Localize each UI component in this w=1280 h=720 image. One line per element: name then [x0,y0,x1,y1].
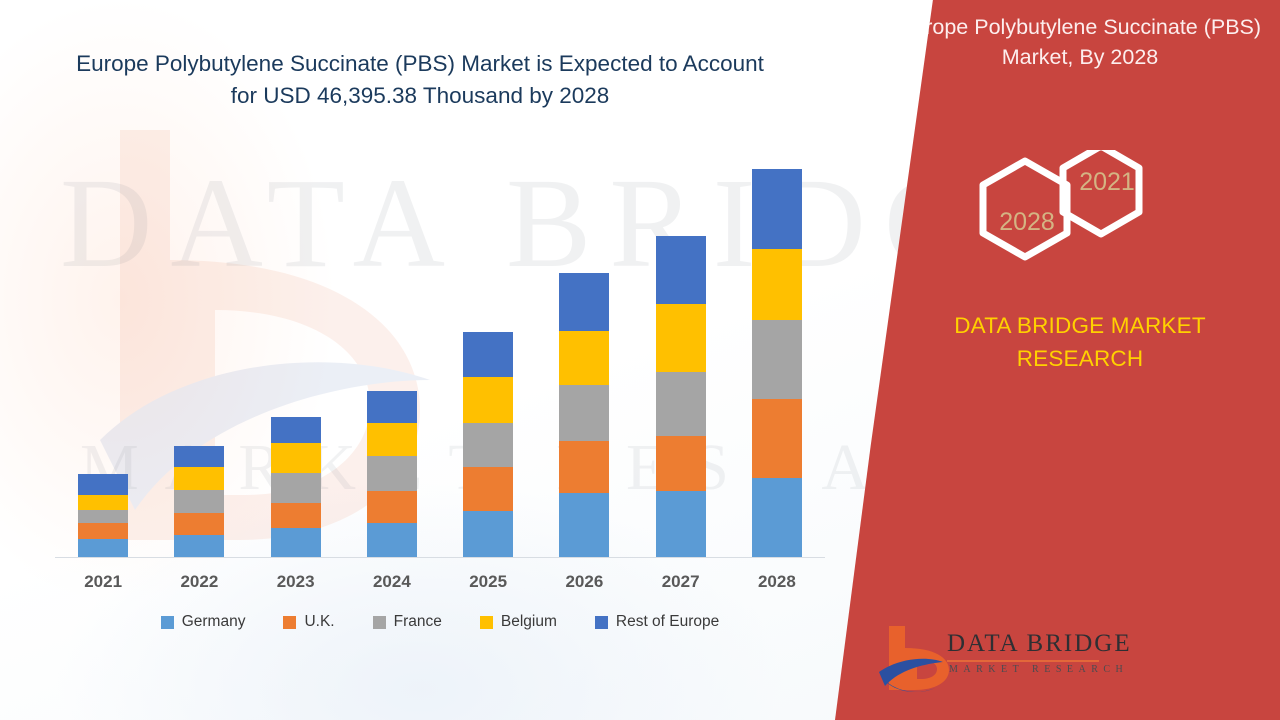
x-axis-tick-2022: 2022 [151,572,247,592]
bar-segment-france [174,490,224,513]
bar-segment-u-k [559,441,609,493]
bar-segment-belgium [752,249,802,320]
bar-column [55,160,151,557]
logo-wordmark: DATA BRIDGE [947,630,1132,658]
bar-stack-2024 [367,391,417,557]
bar-column [151,160,247,557]
legend-swatch-icon [373,616,386,629]
bar-stack-2027 [656,236,706,557]
x-axis-tick-2021: 2021 [55,572,151,592]
bar-segment-u-k [463,467,513,511]
bar-column [729,160,825,557]
bar-column [344,160,440,557]
brand-panel-title: Europe Polybutylene Succinate (PBS) Mark… [895,12,1265,72]
bar-segment-belgium [367,423,417,456]
bar-segment-france [271,473,321,503]
brand-panel-inner: Europe Polybutylene Succinate (PBS) Mark… [835,0,1280,720]
bar-segment-germany [271,528,321,557]
chart-panel: DATA BRIDGE MARKET RESEARCH Europe Polyb… [0,0,880,720]
legend-item-rest-of-europe[interactable]: Rest of Europe [595,613,719,631]
bar-segment-germany [752,478,802,557]
bar-segment-belgium [271,443,321,473]
bar-stack-2025 [463,332,513,557]
bar-segment-germany [463,511,513,557]
bar-stack-2022 [174,446,224,557]
bar-segment-u-k [367,491,417,523]
x-axis-line [55,557,825,558]
chart-plot-area [55,160,825,558]
bar-segment-france [559,385,609,440]
logo-divider [947,660,1099,662]
bar-segment-france [78,510,128,523]
x-axis-tick-2025: 2025 [440,572,536,592]
bar-segment-rest-of-europe [367,391,417,423]
chart-legend: GermanyU.K.FranceBelgiumRest of Europe [55,613,825,631]
x-axis-tick-2028: 2028 [729,572,825,592]
legend-item-u-k[interactable]: U.K. [283,613,334,631]
legend-label: Belgium [501,613,557,631]
bar-segment-belgium [656,304,706,372]
legend-item-france[interactable]: France [373,613,442,631]
bar-segment-germany [174,535,224,557]
bar-segment-rest-of-europe [656,236,706,304]
legend-swatch-icon [161,616,174,629]
bar-segment-rest-of-europe [463,332,513,377]
bar-segment-germany [78,539,128,557]
bar-segment-rest-of-europe [752,169,802,249]
bar-segment-germany [656,491,706,557]
bar-column [536,160,632,557]
legend-label: Rest of Europe [616,613,719,631]
chart-infographic: DATA BRIDGE MARKET RESEARCH Europe Polyb… [0,0,1280,720]
hexagon-2028-label: 2028 [985,208,1069,237]
x-axis-tick-2027: 2027 [633,572,729,592]
x-axis-tick-2024: 2024 [344,572,440,592]
bar-segment-france [656,372,706,436]
bar-segment-belgium [78,495,128,510]
bar-segment-belgium [463,377,513,423]
bar-stack-2023 [271,417,321,557]
x-axis-labels: 20212022202320242025202620272028 [55,572,825,592]
bar-segment-rest-of-europe [271,417,321,443]
hexagon-2021-label: 2021 [1065,168,1149,197]
bar-segment-rest-of-europe [559,273,609,331]
legend-swatch-icon [283,616,296,629]
bar-column [633,160,729,557]
bar-stack-2021 [78,474,128,557]
databridge-logo: DATA BRIDGE MARKET RESEARCH [855,618,1115,698]
legend-label: France [394,613,442,631]
brand-panel: Europe Polybutylene Succinate (PBS) Mark… [835,0,1280,720]
legend-swatch-icon [595,616,608,629]
x-axis-tick-2023: 2023 [248,572,344,592]
bar-segment-france [367,456,417,491]
bar-segment-germany [367,523,417,557]
bar-segment-france [752,320,802,399]
bar-segment-u-k [78,523,128,539]
bar-segment-germany [559,493,609,557]
bar-segment-france [463,423,513,468]
bar-segment-u-k [271,503,321,529]
bar-column [248,160,344,557]
bar-segment-rest-of-europe [78,474,128,495]
x-axis-tick-2026: 2026 [536,572,632,592]
legend-swatch-icon [480,616,493,629]
legend-label: U.K. [304,613,334,631]
brand-name: DATA BRIDGE MARKET RESEARCH [915,310,1245,375]
bar-stack-2028 [752,169,802,557]
bar-segment-belgium [559,331,609,385]
bar-segment-u-k [656,436,706,490]
bar-group [55,160,825,557]
logo-tagline: MARKET RESEARCH [949,664,1128,675]
bar-column [440,160,536,557]
legend-item-belgium[interactable]: Belgium [480,613,557,631]
legend-item-germany[interactable]: Germany [161,613,246,631]
chart-title: Europe Polybutylene Succinate (PBS) Mark… [60,48,780,112]
bar-segment-u-k [174,513,224,534]
bar-segment-belgium [174,467,224,489]
bar-stack-2026 [559,273,609,557]
bar-segment-rest-of-europe [174,446,224,467]
legend-label: Germany [182,613,246,631]
bar-segment-u-k [752,399,802,478]
